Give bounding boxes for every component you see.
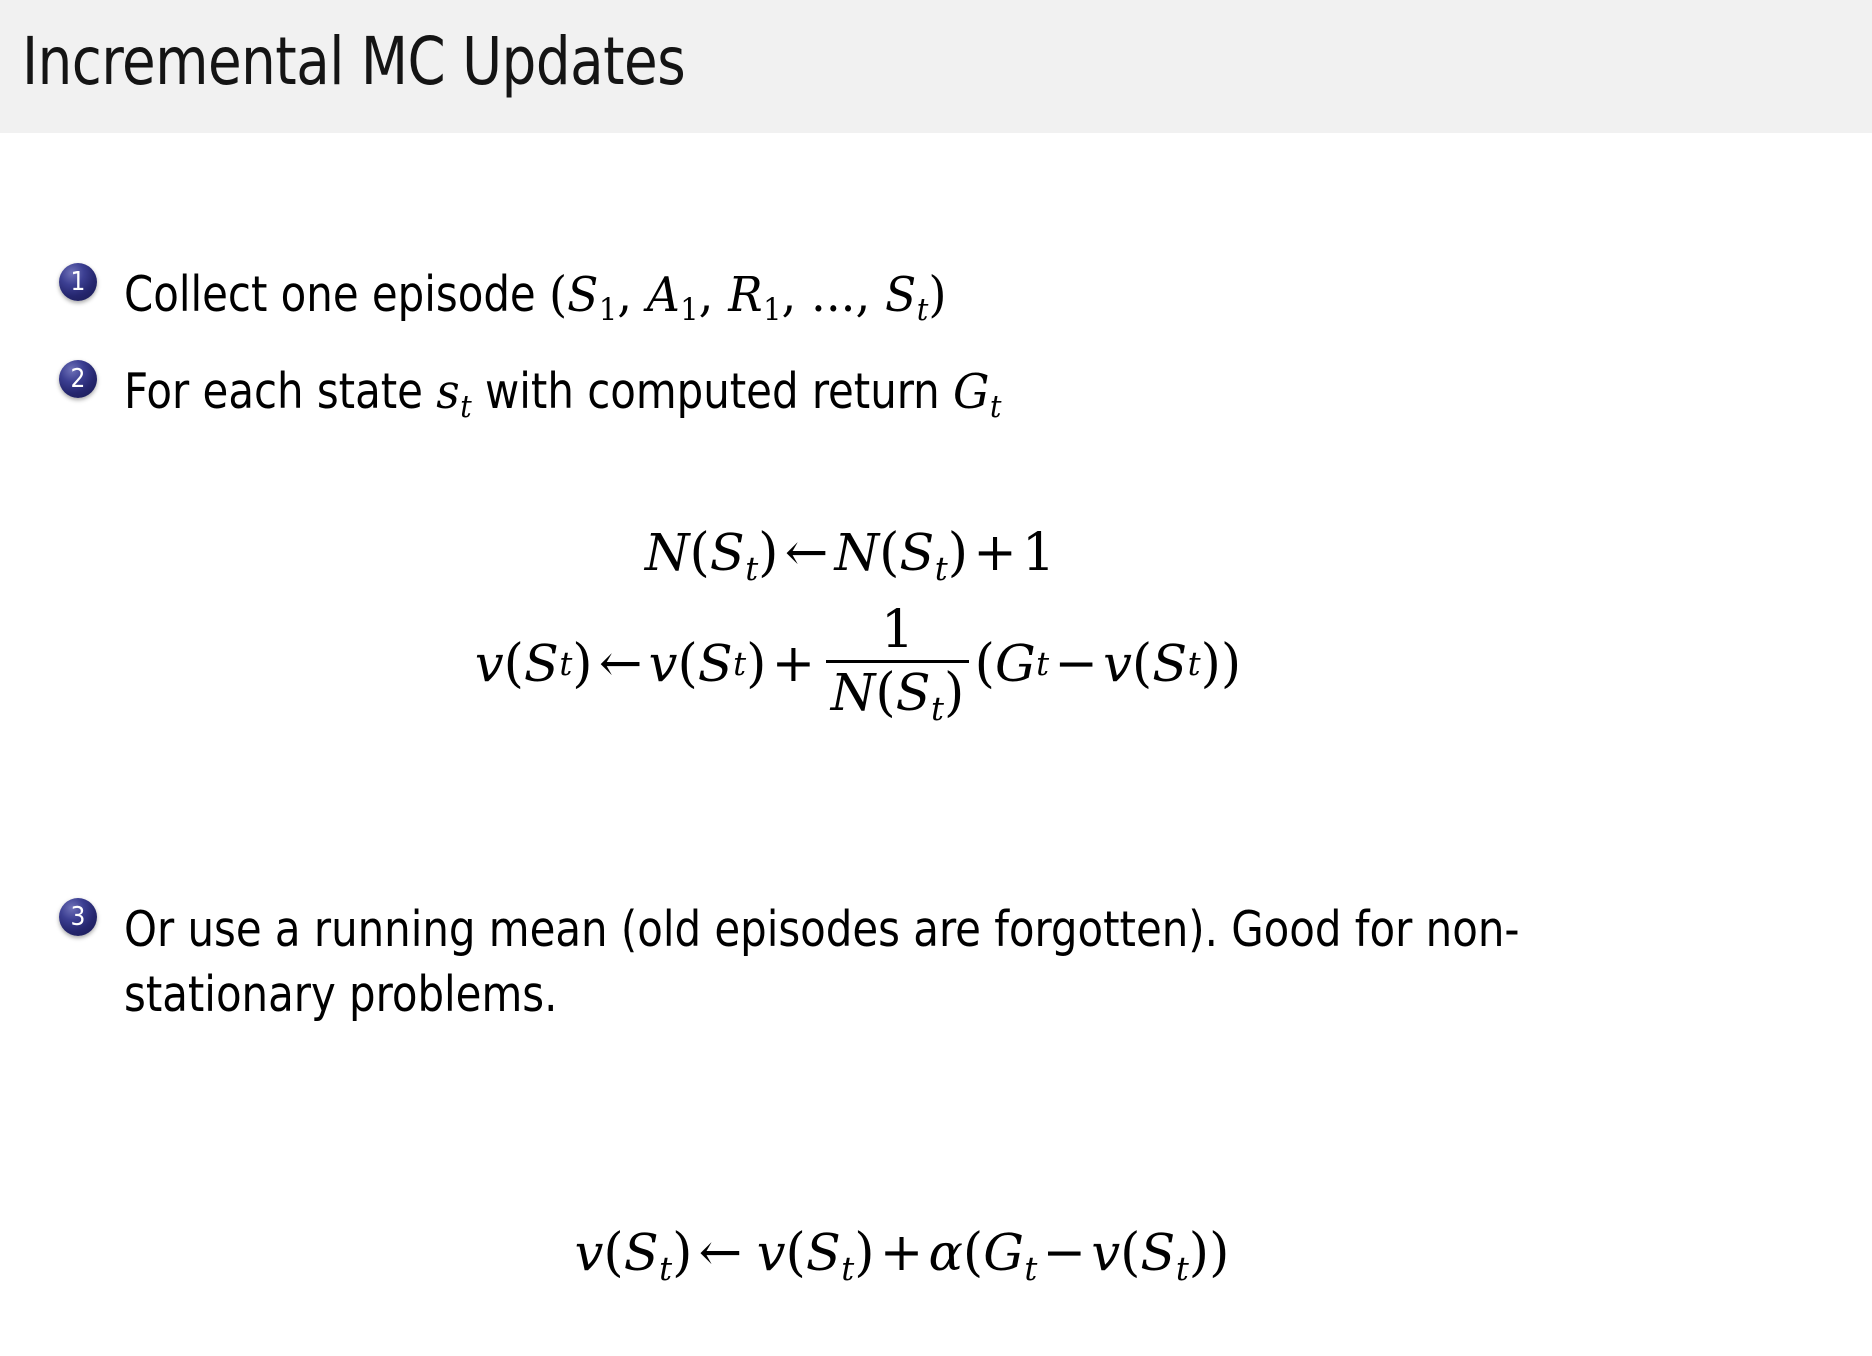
math-number-1: 1 [1022,523,1055,583]
math-var-St: S [885,267,916,323]
math-leftarrow: ← [692,1223,748,1283]
math-comma-2: , [699,266,729,323]
math-var-S: S [710,524,745,583]
math-comma-1: , [617,266,647,323]
math-var-S: S [698,635,733,694]
fraction-numerator: 1 [873,603,923,660]
enum-badge-3: 3 [59,898,97,936]
math-open-paren: ( [603,1223,623,1283]
math-sub-t: t [659,1250,672,1288]
math-var-A1: A [647,267,680,323]
math-var-G: G [995,635,1036,694]
equation-value-update-incremental: v(St)←v(St)+1N(St)(Gt−v(St)) [0,603,1872,726]
math-var-N: N [831,664,876,723]
math-sub-t: t [559,645,572,683]
math-var-S: S [624,1224,659,1283]
math-close-paren: ) [928,266,946,323]
math-var-s: s [436,364,459,420]
math-leftarrow: ← [593,634,649,694]
math-sub-t: t [1024,1250,1037,1288]
math-close-paren: ) [572,634,592,694]
math-sub-t: t [917,293,929,328]
math-var-v: v [649,635,678,694]
math-sub-2: 1 [680,293,698,328]
math-open-paren: ( [677,634,697,694]
math-open-paren: ( [504,634,524,694]
list-item: 1 Collect one episode (S1, A1, R1, ..., … [59,263,990,331]
math-sub-t: t [460,390,472,425]
math-close-paren: ) [948,523,968,583]
equation-value-update-running-mean: v(St)←v(St)+α(Gt−v(St)) [0,1223,1872,1288]
fraction-denominator: N(St) [826,663,970,726]
math-var-S: S [524,635,559,694]
math-close-paren: ) [746,634,766,694]
math-var-v: v [475,635,504,694]
math-close-paren: ) [1209,1223,1229,1283]
list-item: 2 For each state st with computed return… [59,360,1048,428]
math-sub-3: 1 [763,293,781,328]
math-minus: − [1049,634,1103,694]
enum-badge-2: 2 [59,360,97,398]
list-item-text: Collect one episode (S1, A1, R1, ..., St… [124,263,947,331]
math-plus: + [968,523,1022,583]
math-sub-t: t [1188,645,1201,683]
math-close-paren: ) [672,1223,692,1283]
math-sub-t: t [841,1250,854,1288]
math-var-S: S [1140,1224,1175,1283]
math-var-alpha: α [928,1224,962,1283]
math-var-v: v [1091,1224,1120,1283]
math-open-paren: ( [963,1223,983,1283]
equation-count-update: N(St)←N(St)+1 [0,523,1872,588]
math-var-R1: R [728,267,762,323]
math-close-paren: ) [758,523,778,583]
math-open-paren: ( [1132,634,1152,694]
slide: Incremental MC Updates 1 Collect one epi… [0,0,1872,1356]
math-open-paren: ( [875,663,895,723]
math-close-paren: ) [854,1223,874,1283]
math-leftarrow: ← [778,523,834,583]
math-var-S: S [806,1224,841,1283]
math-sub-t: t [733,645,746,683]
math-sub-1: 1 [599,293,617,328]
item-2-prose-b: with computed return [472,363,953,420]
math-ellipsis: ... [811,266,855,323]
list-item-text: Or use a running mean (old episodes are … [124,898,1663,1027]
equation-2-body: v(St)←v(St)+1N(St)(Gt−v(St)) [0,603,1794,726]
math-open-paren: ( [689,523,709,583]
item-1-prose: Collect one episode [124,266,549,323]
list-item: 3 Or use a running mean (old episodes ar… [59,898,1759,1027]
math-close-paren: ) [944,663,964,723]
math-open-paren: ( [975,634,995,694]
math-var-S: S [899,524,934,583]
math-sub-t: t [745,550,758,588]
math-sub-t: t [1176,1250,1189,1288]
math-close-paren: ) [1221,634,1241,694]
math-sub-t: t [1036,645,1049,683]
math-var-v: v [757,1224,786,1283]
math-fraction-one-over-N: 1N(St) [826,603,970,726]
math-minus: − [1037,1223,1091,1283]
math-sub-t: t [931,690,944,728]
math-var-N: N [645,524,690,583]
math-var-S: S [1152,635,1187,694]
math-open-paren: ( [1120,1223,1140,1283]
math-var-v: v [575,1224,604,1283]
math-var-G: G [983,1224,1024,1283]
slide-body: 1 Collect one episode (S1, A1, R1, ..., … [0,133,1872,1356]
math-var-S1: S [567,267,598,323]
math-open-paren: ( [879,523,899,583]
math-sub-t: t [935,550,948,588]
math-var-G: G [953,364,989,420]
math-var-S: S [896,664,931,723]
list-item-text: For each state st with computed return G… [124,360,1002,428]
equation-3-body: v(St)←v(St)+α(Gt−v(St)) [575,1223,1230,1288]
equation-1-body: N(St)←N(St)+1 [645,523,1055,588]
slide-title-bar: Incremental MC Updates [0,0,1872,133]
page-title: Incremental MC Updates [22,23,685,100]
math-var-N: N [835,524,880,583]
math-var-v: v [1103,635,1132,694]
math-close-paren: ) [1189,1223,1209,1283]
math-comma-3: , [781,266,811,323]
math-sub-t: t [990,390,1002,425]
enum-badge-1: 1 [59,263,97,301]
math-comma-4: , [855,266,885,323]
math-open-paren: ( [549,266,567,323]
item-2-prose-a: For each state [124,363,436,420]
math-close-paren: ) [1201,634,1221,694]
math-open-paren: ( [786,1223,806,1283]
math-plus: + [766,634,820,694]
math-plus: + [875,1223,929,1283]
